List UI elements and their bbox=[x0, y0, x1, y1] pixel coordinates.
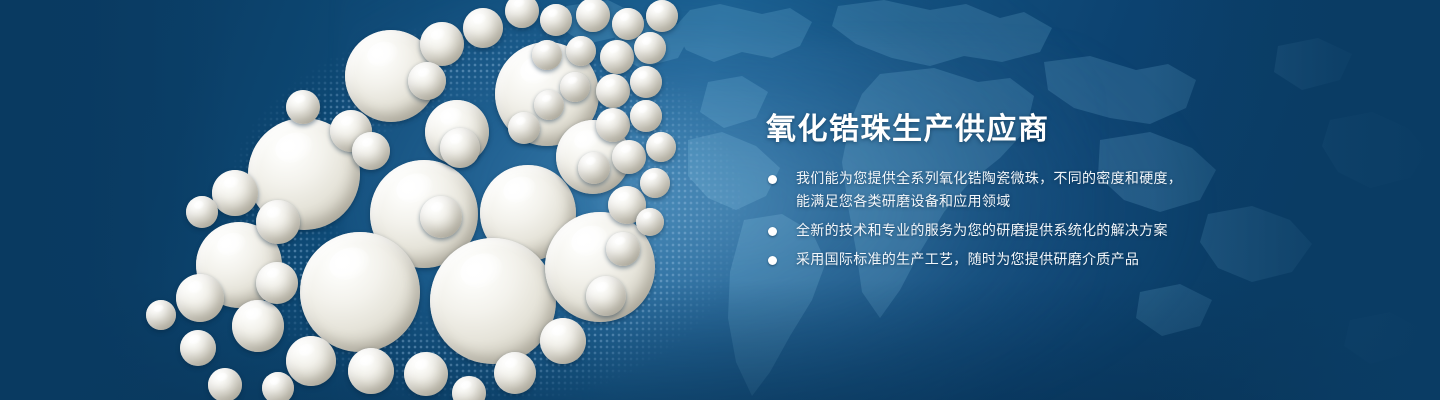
page-title: 氧化锆珠生产供应商 bbox=[766, 112, 1050, 148]
bead bbox=[300, 232, 420, 352]
bead bbox=[262, 372, 294, 400]
bead bbox=[646, 0, 678, 32]
bead bbox=[566, 36, 596, 66]
bead bbox=[408, 62, 446, 100]
feature-list: 我们能为您提供全系列氧化锆陶瓷微珠，不同的密度和硬度， 能满足您各类研磨设备和应… bbox=[766, 168, 1236, 278]
bead bbox=[508, 112, 540, 144]
bead bbox=[212, 170, 258, 216]
bead bbox=[540, 318, 586, 364]
bead bbox=[176, 274, 224, 322]
bead bbox=[430, 238, 556, 364]
bead bbox=[232, 300, 284, 352]
bead bbox=[420, 22, 464, 66]
bead bbox=[208, 368, 242, 400]
list-item: 全新的技术和专业的服务为您的研磨提供系统化的解决方案 bbox=[766, 220, 1236, 243]
bead bbox=[180, 330, 216, 366]
bead bbox=[576, 0, 610, 32]
bead bbox=[463, 8, 503, 48]
bead bbox=[186, 196, 218, 228]
list-item: 我们能为您提供全系列氧化锆陶瓷微珠，不同的密度和硬度， 能满足您各类研磨设备和应… bbox=[766, 168, 1236, 214]
bead bbox=[404, 352, 448, 396]
bead bbox=[286, 336, 336, 386]
bead bbox=[348, 348, 394, 394]
bead bbox=[634, 32, 666, 64]
bead bbox=[578, 152, 610, 184]
bullet-dot-icon bbox=[768, 175, 777, 184]
bead bbox=[452, 376, 486, 400]
hero-banner: 氧化锆珠生产供应商 我们能为您提供全系列氧化锆陶瓷微珠，不同的密度和硬度， 能满… bbox=[0, 0, 1440, 400]
bead bbox=[596, 108, 630, 142]
bead bbox=[606, 232, 640, 266]
bead bbox=[630, 66, 662, 98]
bullet-dot-icon bbox=[768, 256, 777, 265]
bead bbox=[600, 40, 634, 74]
bead bbox=[420, 196, 462, 238]
bead bbox=[532, 40, 562, 70]
bead bbox=[596, 74, 630, 108]
bullet-dot-icon bbox=[768, 227, 777, 236]
bead bbox=[534, 90, 564, 120]
bead bbox=[146, 300, 176, 330]
bead bbox=[646, 132, 676, 162]
bead bbox=[440, 128, 480, 168]
bead bbox=[494, 352, 536, 394]
bead bbox=[505, 0, 539, 28]
bead bbox=[630, 100, 662, 132]
bead bbox=[256, 200, 300, 244]
list-item: 采用国际标准的生产工艺，随时为您提供研磨介质产品 bbox=[766, 249, 1236, 272]
list-item-line: 我们能为您提供全系列氧化锆陶瓷微珠，不同的密度和硬度， bbox=[796, 168, 1236, 191]
bead bbox=[636, 208, 664, 236]
bead bbox=[256, 262, 298, 304]
bead bbox=[286, 90, 320, 124]
list-item-line: 能满足您各类研磨设备和应用领域 bbox=[796, 191, 1236, 214]
bead bbox=[540, 4, 572, 36]
banner-text-block: 氧化锆珠生产供应商 我们能为您提供全系列氧化锆陶瓷微珠，不同的密度和硬度， 能满… bbox=[766, 0, 1426, 400]
bead bbox=[640, 168, 670, 198]
list-item-line: 采用国际标准的生产工艺，随时为您提供研磨介质产品 bbox=[796, 249, 1236, 272]
bead bbox=[560, 72, 590, 102]
bead bbox=[612, 140, 646, 174]
zirconia-bead-cluster-image bbox=[0, 0, 760, 400]
bead bbox=[586, 276, 626, 316]
list-item-line: 全新的技术和专业的服务为您的研磨提供系统化的解决方案 bbox=[796, 220, 1236, 243]
bead bbox=[352, 132, 390, 170]
